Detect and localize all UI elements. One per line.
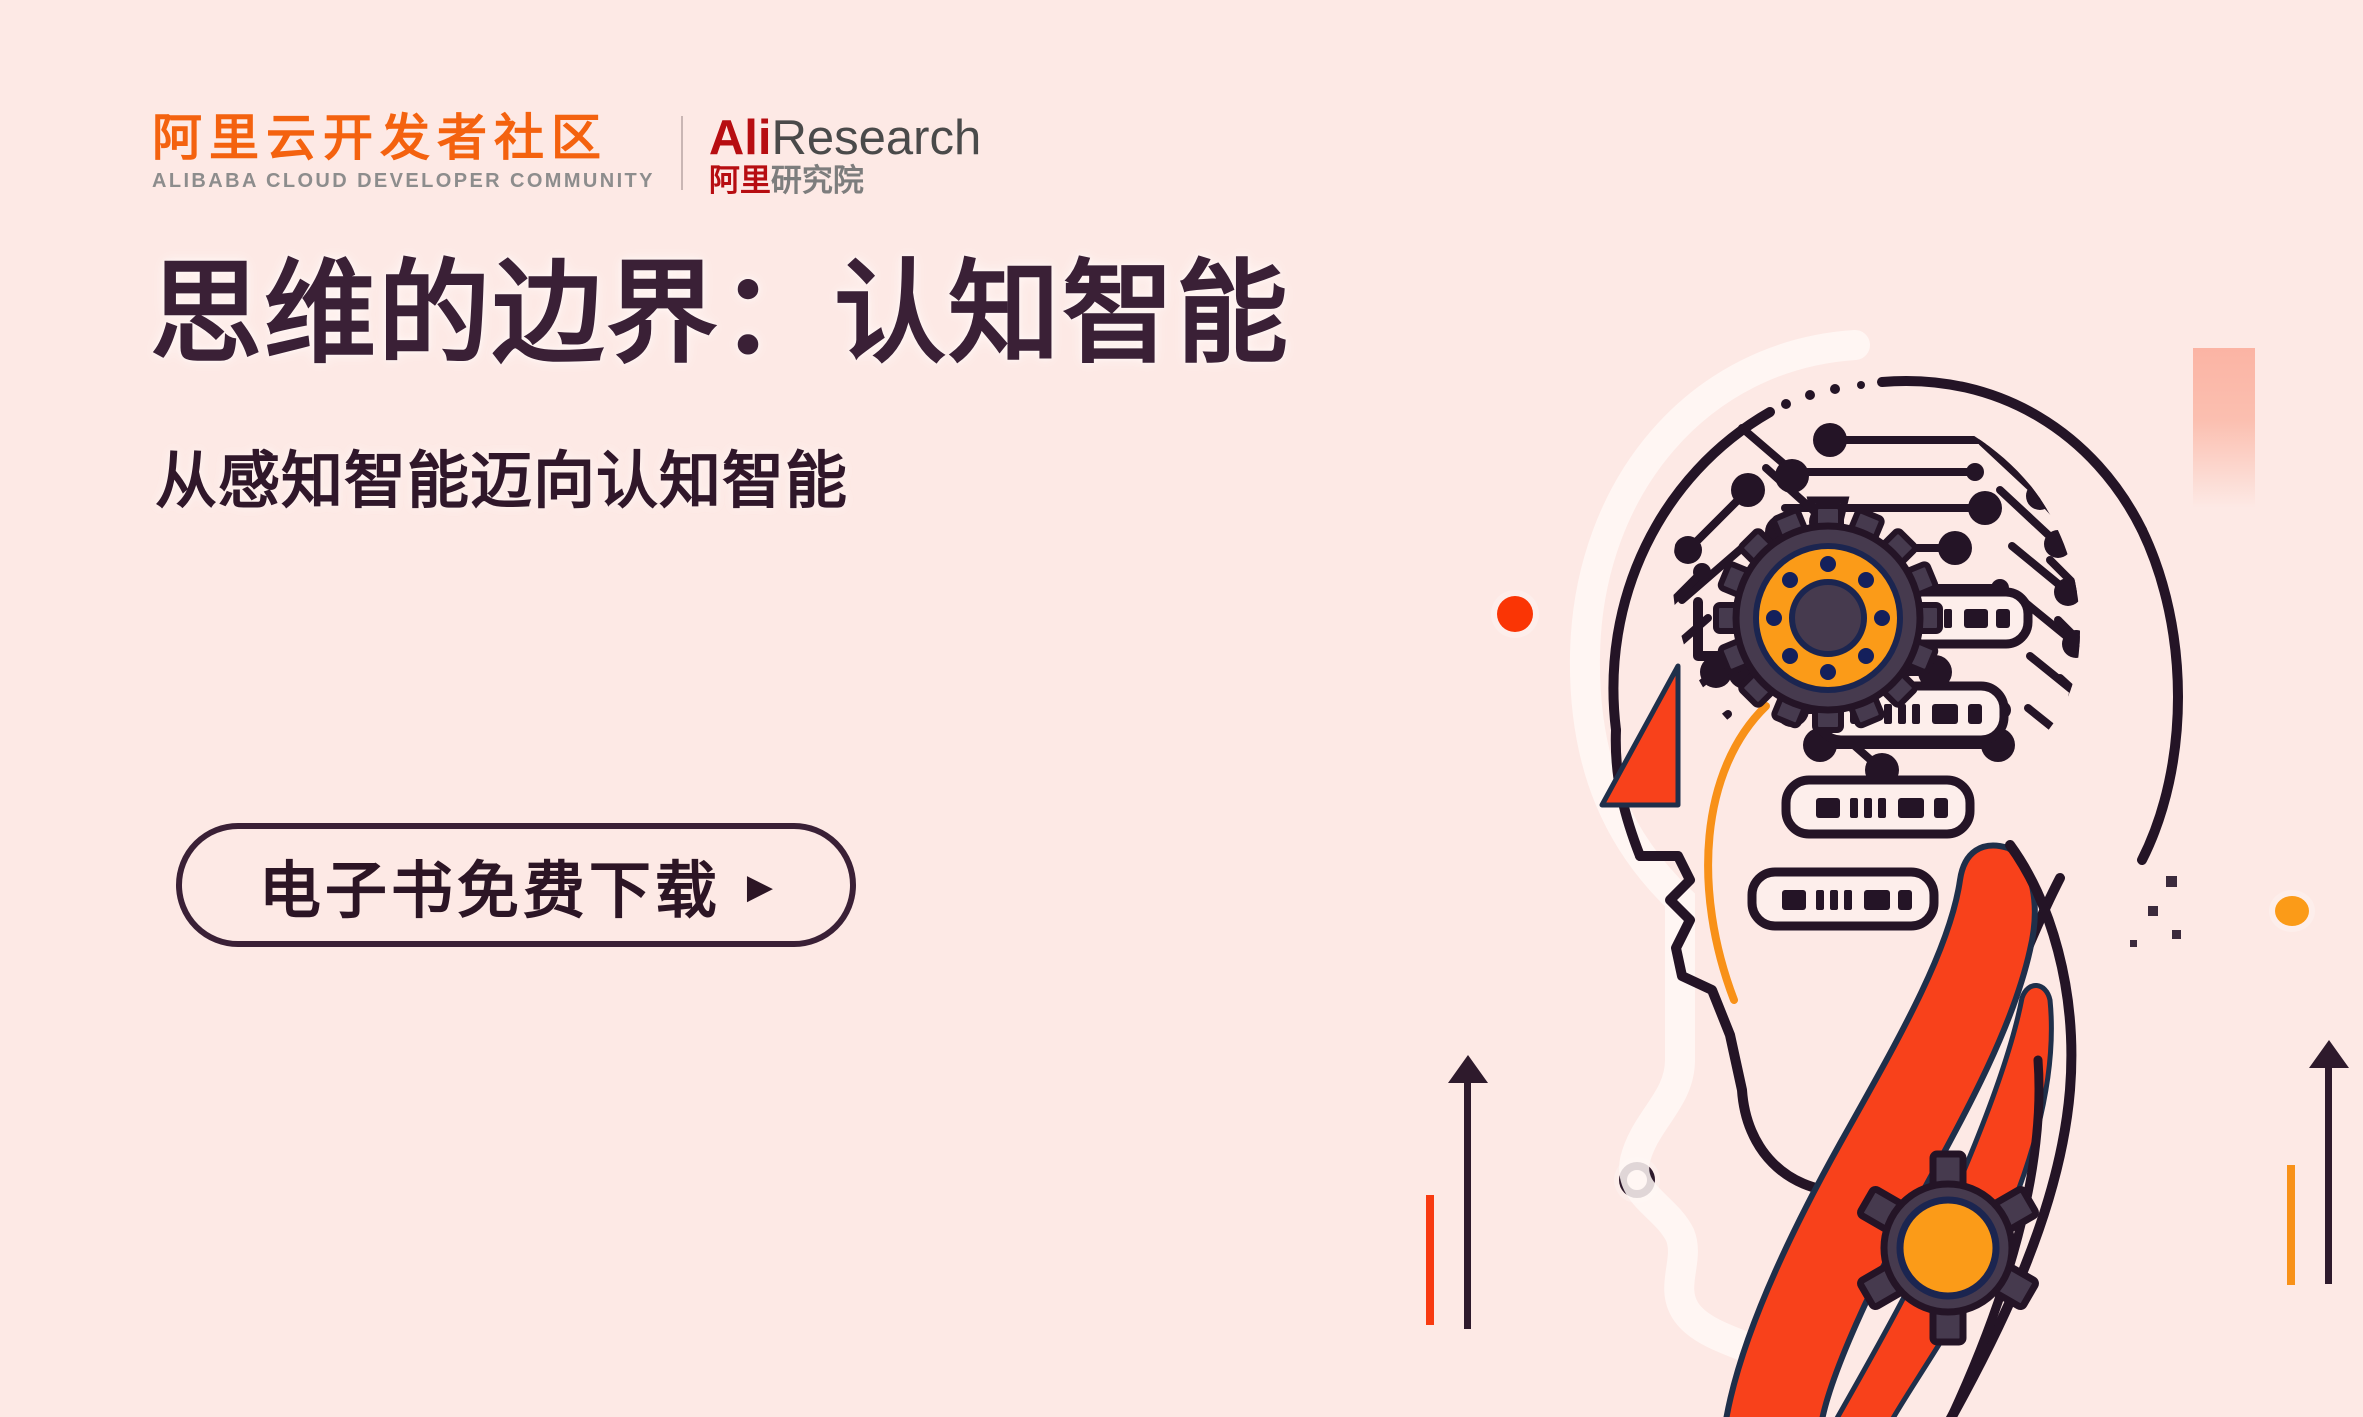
ali-research-logo[interactable]: AliResearch 阿里研究院 <box>709 112 981 196</box>
arrow-shaft <box>1464 1079 1471 1329</box>
logo-community-cn: 阿里云开发者社区 <box>152 112 655 165</box>
logo-ali-text: Ali <box>709 111 772 165</box>
logo-community-en: ALIBABA CLOUD DEVELOPER COMMUNITY <box>152 170 655 193</box>
logo-research-cn-text: 研究院 <box>771 163 864 198</box>
logo-lockup[interactable]: 阿里云开发者社区 ALIBABA CLOUD DEVELOPER COMMUNI… <box>152 112 981 196</box>
cognitive-ai-head-illustration <box>1530 300 2363 1417</box>
inner-orange-arc <box>1708 706 1766 1000</box>
decor-red-dot <box>1497 596 1533 632</box>
page-title: 思维的边界：认知智能 <box>150 248 1290 380</box>
decor-tick-red <box>1426 1195 1434 1325</box>
gear-large <box>1716 500 1940 730</box>
promo-banner: 阿里云开发者社区 ALIBABA CLOUD DEVELOPER COMMUNI… <box>0 0 2363 1417</box>
logo-divider <box>681 116 683 190</box>
neck-ribbon <box>1726 845 2071 1417</box>
logo-ali-research-cn: 阿里研究院 <box>709 165 981 196</box>
alibaba-cloud-community-logo[interactable]: 阿里云开发者社区 ALIBABA CLOUD DEVELOPER COMMUNI… <box>152 112 655 193</box>
ebook-download-button[interactable]: 电子书免费下载 ▶ <box>176 823 856 947</box>
page-subtitle: 从感知智能迈向认知智能 <box>155 430 848 520</box>
logo-ali-cn-text: 阿里 <box>709 163 771 198</box>
play-triangle-icon: ▶ <box>747 870 773 904</box>
ebook-download-label: 电子书免费下载 <box>259 840 721 930</box>
logo-ali-research-wordmark: AliResearch <box>709 114 981 163</box>
logo-research-text: Research <box>772 111 982 165</box>
